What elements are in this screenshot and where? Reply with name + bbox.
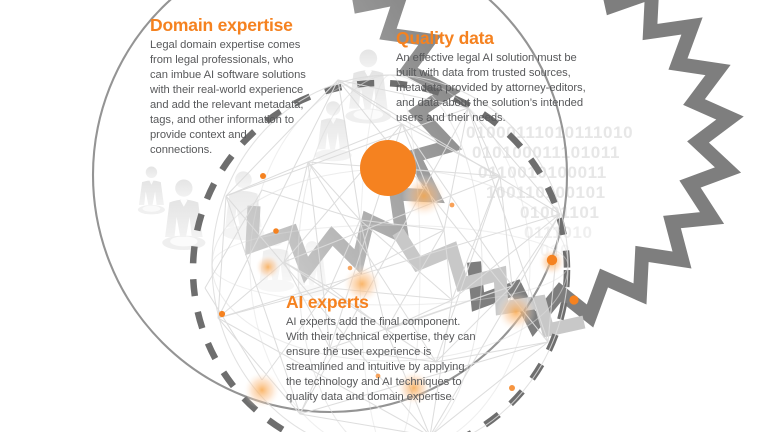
body-line: tags, and other information to	[150, 113, 330, 128]
body-line: users and their needs.	[396, 111, 606, 126]
body-line: connections.	[150, 143, 330, 158]
body-line: quality data and domain expertise.	[286, 390, 496, 405]
body-line: and add the relevant metadata,	[150, 98, 330, 113]
section-ai-experts: AI experts AI experts add the final comp…	[286, 293, 496, 405]
body-line: Legal domain expertise comes	[150, 38, 330, 53]
section-body-quality-data: An effective legal AI solution must be b…	[396, 51, 606, 126]
section-body-ai-experts: AI experts add the final component. With…	[286, 315, 496, 405]
body-line: with their real-world experience	[150, 83, 330, 98]
body-line: built with data from trusted sources,	[396, 66, 606, 81]
body-line: With their technical expertise, they can	[286, 330, 496, 345]
infographic-canvas: 01000111010111010 010100011101011 011001…	[0, 0, 768, 432]
body-line: ensure the user experience is	[286, 345, 496, 360]
body-line: An effective legal AI solution must be	[396, 51, 606, 66]
body-line: AI experts add the final component.	[286, 315, 496, 330]
body-line: and data about the solution’s intended	[396, 96, 606, 111]
binary-row: 010100011101011	[472, 143, 620, 162]
section-heading-domain-expertise: Domain expertise	[150, 16, 330, 36]
section-body-domain-expertise: Legal domain expertise comes from legal …	[150, 38, 330, 159]
body-line: streamlined and intuitive by applying	[286, 360, 496, 375]
section-domain-expertise: Domain expertise Legal domain expertise …	[150, 16, 330, 158]
binary-row: 100110100101	[486, 183, 606, 202]
section-heading-ai-experts: AI experts	[286, 293, 496, 313]
body-line: provide context and	[150, 128, 330, 143]
body-line: the technology and AI techniques to	[286, 375, 496, 390]
body-line: from legal professionals, who	[150, 53, 330, 68]
section-heading-quality-data: Quality data	[396, 29, 606, 49]
body-line: can imbue AI software solutions	[150, 68, 330, 83]
section-quality-data: Quality data An effective legal AI solut…	[396, 29, 606, 126]
body-line: metadata provided by attorney-editors,	[396, 81, 606, 96]
orange-center-node	[360, 140, 416, 196]
